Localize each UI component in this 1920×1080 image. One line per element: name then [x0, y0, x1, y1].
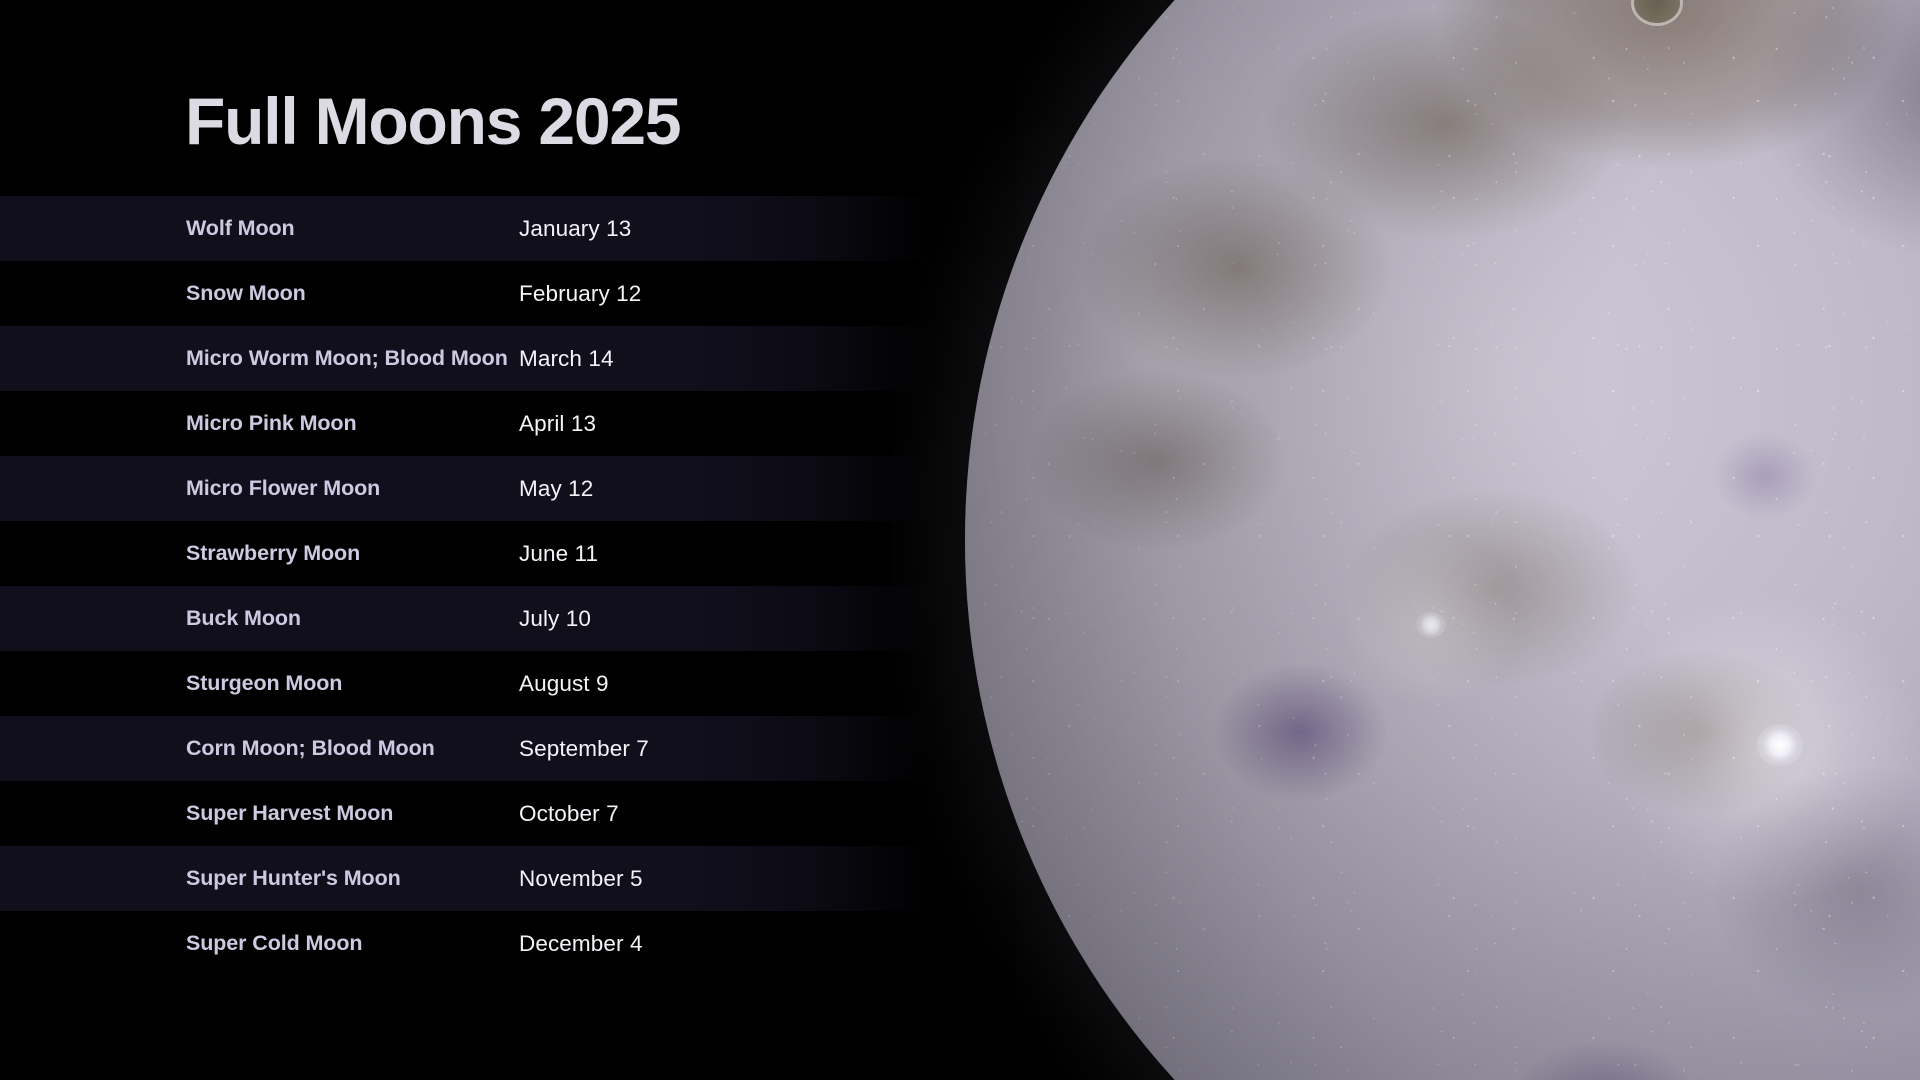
moon-date-cell: December 4	[519, 931, 643, 957]
page-title: Full Moons 2025	[185, 88, 680, 154]
table-row: Micro Flower MoonMay 12	[0, 456, 960, 521]
moon-name-cell: Micro Flower Moon	[186, 476, 519, 501]
moon-date-cell: July 10	[519, 606, 591, 632]
dark-crater-icon	[1634, 0, 1680, 23]
table-row: Wolf MoonJanuary 13	[0, 196, 960, 261]
moon-disc	[965, 0, 1920, 1080]
moon-name-cell: Sturgeon Moon	[186, 671, 519, 696]
moon-date-cell: June 11	[519, 541, 598, 567]
bright-ray-crater-icon	[1757, 724, 1803, 766]
moon-crater-rays	[965, 0, 1920, 1080]
table-row: Strawberry MoonJune 11	[0, 521, 960, 586]
moon-date-cell: January 13	[519, 216, 631, 242]
moon-date-cell: September 7	[519, 736, 649, 762]
moon-vignette	[965, 0, 1920, 1080]
moon-name-cell: Super Harvest Moon	[186, 801, 519, 826]
table-row: Snow MoonFebruary 12	[0, 261, 960, 326]
table-row: Corn Moon; Blood MoonSeptember 7	[0, 716, 960, 781]
moon-name-cell: Strawberry Moon	[186, 541, 519, 566]
moon-grey-maria	[965, 0, 1920, 1080]
moon-date-cell: August 9	[519, 671, 609, 697]
moon-name-cell: Wolf Moon	[186, 216, 519, 241]
moon-name-cell: Micro Pink Moon	[186, 411, 519, 436]
table-row: Micro Pink MoonApril 13	[0, 391, 960, 456]
moon-name-cell: Snow Moon	[186, 281, 519, 306]
moon-regolith-texture	[965, 0, 1920, 1080]
moon-name-cell: Super Hunter's Moon	[186, 866, 519, 891]
table-row: Super Hunter's MoonNovember 5	[0, 846, 960, 911]
moon-date-cell: November 5	[519, 866, 643, 892]
moon-name-cell: Corn Moon; Blood Moon	[186, 736, 519, 761]
poster-canvas: Full Moons 2025 Wolf MoonJanuary 13Snow …	[0, 0, 1920, 1080]
moon-limb-relief	[965, 0, 1920, 1080]
table-row: Micro Worm Moon; Blood MoonMarch 14	[0, 326, 960, 391]
moon-date-cell: April 13	[519, 411, 596, 437]
table-row: Sturgeon MoonAugust 9	[0, 651, 960, 716]
moon-date-cell: October 7	[519, 801, 619, 827]
bright-crater-icon	[1416, 612, 1446, 638]
moon-date-cell: February 12	[519, 281, 641, 307]
moon-violet-minerals	[965, 0, 1920, 1080]
table-row: Super Harvest MoonOctober 7	[0, 781, 960, 846]
full-moon-table: Wolf MoonJanuary 13Snow MoonFebruary 12M…	[0, 196, 960, 976]
moon-date-cell: March 14	[519, 346, 614, 372]
moon-name-cell: Buck Moon	[186, 606, 519, 631]
moon-name-cell: Micro Worm Moon; Blood Moon	[186, 346, 519, 371]
moon-name-cell: Super Cold Moon	[186, 931, 519, 956]
table-row: Super Cold MoonDecember 4	[0, 911, 960, 976]
table-row: Buck MoonJuly 10	[0, 586, 960, 651]
moon-tan-maria	[965, 0, 1920, 1080]
moon-date-cell: May 12	[519, 476, 593, 502]
text-column: Full Moons 2025 Wolf MoonJanuary 13Snow …	[0, 0, 960, 1080]
